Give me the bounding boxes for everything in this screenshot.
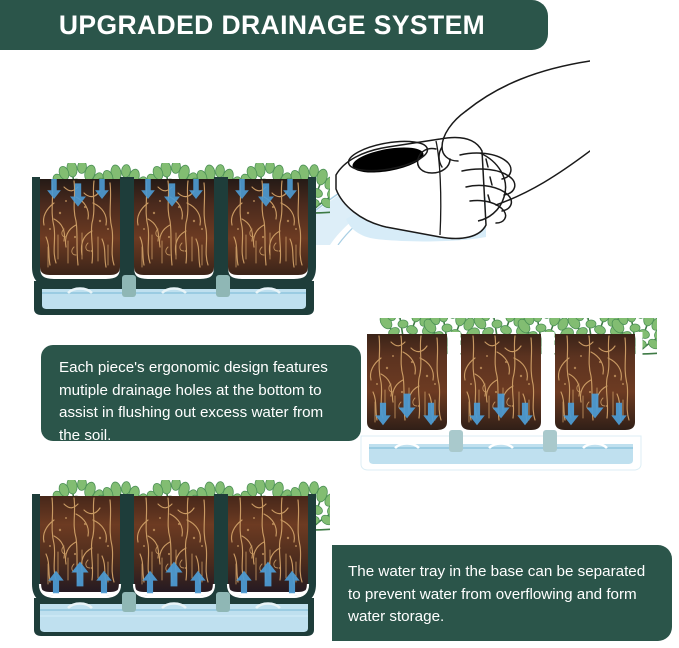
callout-water-tray: The water tray in the base can be separa… (332, 545, 672, 641)
drain-post (543, 430, 557, 452)
tray-water (42, 289, 306, 309)
page-title: UPGRADED DRAINAGE SYSTEM (59, 10, 489, 41)
drain-post (216, 275, 230, 297)
callout-2-text: The water tray in the base can be separa… (348, 561, 656, 629)
drain-post (449, 430, 463, 452)
hand-pouring-watering-can-illustration (290, 55, 590, 245)
planter-draining-to-tray (357, 318, 657, 478)
drain-post (122, 275, 136, 297)
water-tray (361, 430, 641, 470)
planter-top-watering (30, 163, 330, 323)
callout-1-text: Each piece's ergonomic design features m… (59, 357, 347, 447)
tray-water (369, 444, 633, 464)
drain-post (122, 592, 136, 612)
infographic-canvas: UPGRADED DRAINAGE SYSTEM (0, 0, 679, 648)
callout-drainage-holes: Each piece's ergonomic design features m… (41, 345, 361, 441)
title-banner: UPGRADED DRAINAGE SYSTEM (0, 0, 548, 50)
planter-wicking-from-storage (30, 480, 330, 640)
drain-post (216, 592, 230, 612)
tray-water (40, 604, 308, 632)
water-tray (34, 275, 314, 315)
water-tray (34, 592, 314, 636)
